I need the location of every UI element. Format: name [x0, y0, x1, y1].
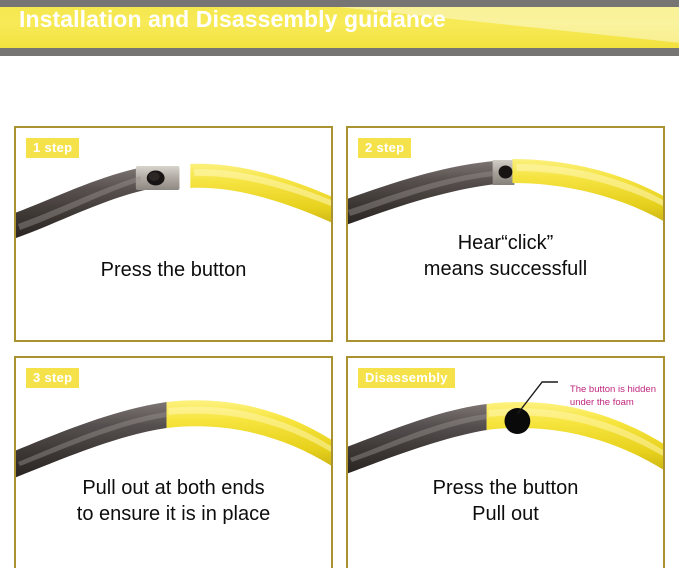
caption-step-1: Press the button: [16, 258, 331, 284]
photo-separated-tubes-with-connector: [16, 128, 331, 340]
annotation-button-hidden: The button is hidden under the foam: [570, 384, 656, 409]
panel-step-2[interactable]: 2 step Hear“click” means successfull: [346, 126, 665, 342]
guidance-panel-grid: 1 step Press the button: [0, 62, 679, 568]
header-rule-bottom: [0, 48, 679, 56]
panel-disassembly[interactable]: The button is hidden under the foam Disa…: [346, 356, 665, 568]
badge-disassembly: Disassembly: [358, 368, 455, 388]
caption-disassembly: Press the button Pull out: [348, 476, 663, 527]
panel-row-bottom: 3 step Pull out at both ends to ensure i…: [14, 356, 665, 568]
page-title: Installation and Disassembly guidance: [19, 6, 446, 33]
badge-step-1: 1 step: [26, 138, 79, 158]
page-header: Installation and Disassembly guidance: [0, 0, 679, 62]
panel-row-top: 1 step Press the button: [14, 126, 665, 342]
caption-step-3: Pull out at both ends to ensure it is in…: [16, 476, 331, 527]
badge-step-3: 3 step: [26, 368, 79, 388]
panel-step-1[interactable]: 1 step Press the button: [14, 126, 333, 342]
badge-step-2: 2 step: [358, 138, 411, 158]
panel-step-3[interactable]: 3 step Pull out at both ends to ensure i…: [14, 356, 333, 568]
caption-step-2: Hear“click” means successfull: [348, 231, 663, 282]
photo-assembled-curved-tube: [16, 358, 331, 568]
